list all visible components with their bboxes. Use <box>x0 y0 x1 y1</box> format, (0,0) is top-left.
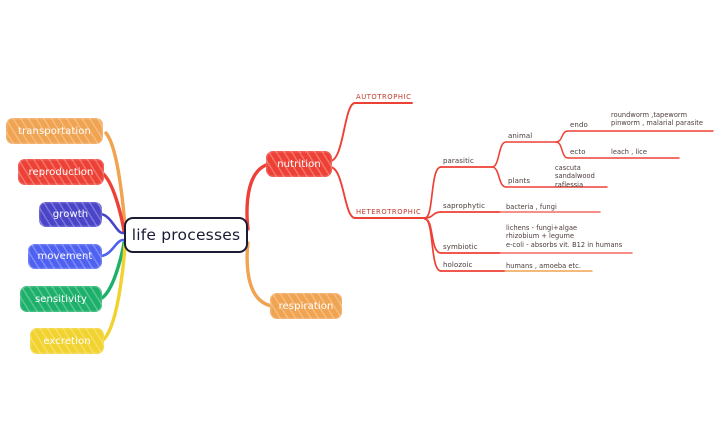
connector-edges <box>0 0 715 443</box>
node-movement-label: movement <box>38 251 93 262</box>
edge-movement <box>101 240 123 256</box>
detail-plant-examples[interactable]: cascuta sandalwood raflessia <box>555 164 595 189</box>
edge-ecto <box>556 142 568 158</box>
node-sensitivity-label: sensitivity <box>35 294 87 305</box>
edge-respiration <box>247 243 272 306</box>
label-ecto[interactable]: ecto <box>570 148 586 157</box>
edge-parasitic <box>425 167 441 218</box>
node-movement[interactable]: movement <box>28 244 102 269</box>
label-autotrophic[interactable]: AUTOTROPHIC <box>356 93 411 102</box>
label-plants[interactable]: plants <box>508 177 530 186</box>
detail-saprophytic-examples[interactable]: bacteria , fungi <box>506 203 557 211</box>
edge-sensitivity <box>102 243 124 298</box>
detail-ecto-examples[interactable]: leach , lice <box>611 148 647 156</box>
edge-heterotrophic <box>330 167 355 218</box>
label-saprophytic[interactable]: saprophytic <box>443 202 485 211</box>
mindmap-canvas: life processes transportation reproducti… <box>0 0 715 443</box>
node-nutrition-label: nutrition <box>277 159 321 170</box>
edge-holozoic <box>425 219 441 271</box>
label-holozoic[interactable]: holozoic <box>443 261 473 270</box>
edge-symbiotic <box>425 219 441 253</box>
node-excretion-label: excretion <box>43 336 90 347</box>
node-transportation-label: transportation <box>18 126 91 137</box>
node-respiration[interactable]: respiration <box>270 293 342 319</box>
edge-transportation <box>106 133 125 228</box>
root-node[interactable]: life processes <box>124 217 248 253</box>
edge-saprophytic <box>425 212 441 218</box>
edge-nutrition <box>247 164 269 229</box>
edge-excretion <box>103 245 125 340</box>
node-reproduction[interactable]: reproduction <box>18 159 104 185</box>
node-growth-label: growth <box>53 209 88 220</box>
edge-growth <box>101 214 123 233</box>
label-symbiotic[interactable]: symbiotic <box>443 243 478 252</box>
node-reproduction-label: reproduction <box>29 167 94 178</box>
edge-endo <box>556 131 568 142</box>
node-growth[interactable]: growth <box>39 202 102 227</box>
edge-reproduction <box>101 172 124 231</box>
label-animal[interactable]: animal <box>508 132 532 141</box>
label-parasitic[interactable]: parasitic <box>443 157 474 166</box>
node-respiration-label: respiration <box>279 301 334 312</box>
edge-animal <box>492 142 506 167</box>
label-heterotrophic[interactable]: HETEROTROPHIC <box>356 208 421 217</box>
node-nutrition[interactable]: nutrition <box>266 151 332 177</box>
root-node-label: life processes <box>132 226 241 244</box>
detail-endo-examples[interactable]: roundworm ,tapeworm pinworm , malarial p… <box>611 111 703 128</box>
detail-symbiotic-examples[interactable]: lichens - fungi+algae rhizobium + legume… <box>506 224 622 249</box>
detail-holozoic-examples[interactable]: humans , amoeba etc. <box>506 262 581 270</box>
node-transportation[interactable]: transportation <box>6 118 103 144</box>
node-sensitivity[interactable]: sensitivity <box>20 286 102 312</box>
edge-plants <box>492 167 506 187</box>
edge-autotrophic <box>330 103 355 161</box>
node-excretion[interactable]: excretion <box>30 328 104 354</box>
label-endo[interactable]: endo <box>570 121 588 130</box>
